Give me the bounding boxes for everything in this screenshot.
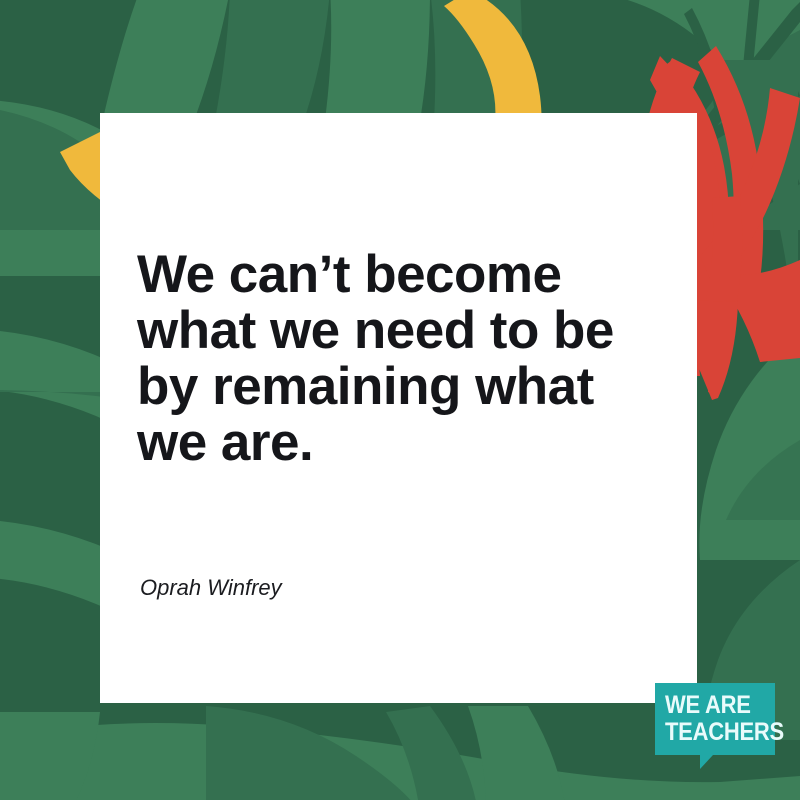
logo-speech-bubble-tail <box>700 755 713 769</box>
quote-graphic: We can’t become what we need to be by re… <box>0 0 800 800</box>
logo-wordmark: WE ARE TEACHERS <box>665 692 757 746</box>
quote-card: We can’t become what we need to be by re… <box>100 113 697 703</box>
we-are-teachers-logo[interactable]: WE ARE TEACHERS <box>655 683 775 755</box>
quote-text: We can’t become what we need to be by re… <box>137 247 677 471</box>
quote-author: Oprah Winfrey <box>140 575 282 601</box>
